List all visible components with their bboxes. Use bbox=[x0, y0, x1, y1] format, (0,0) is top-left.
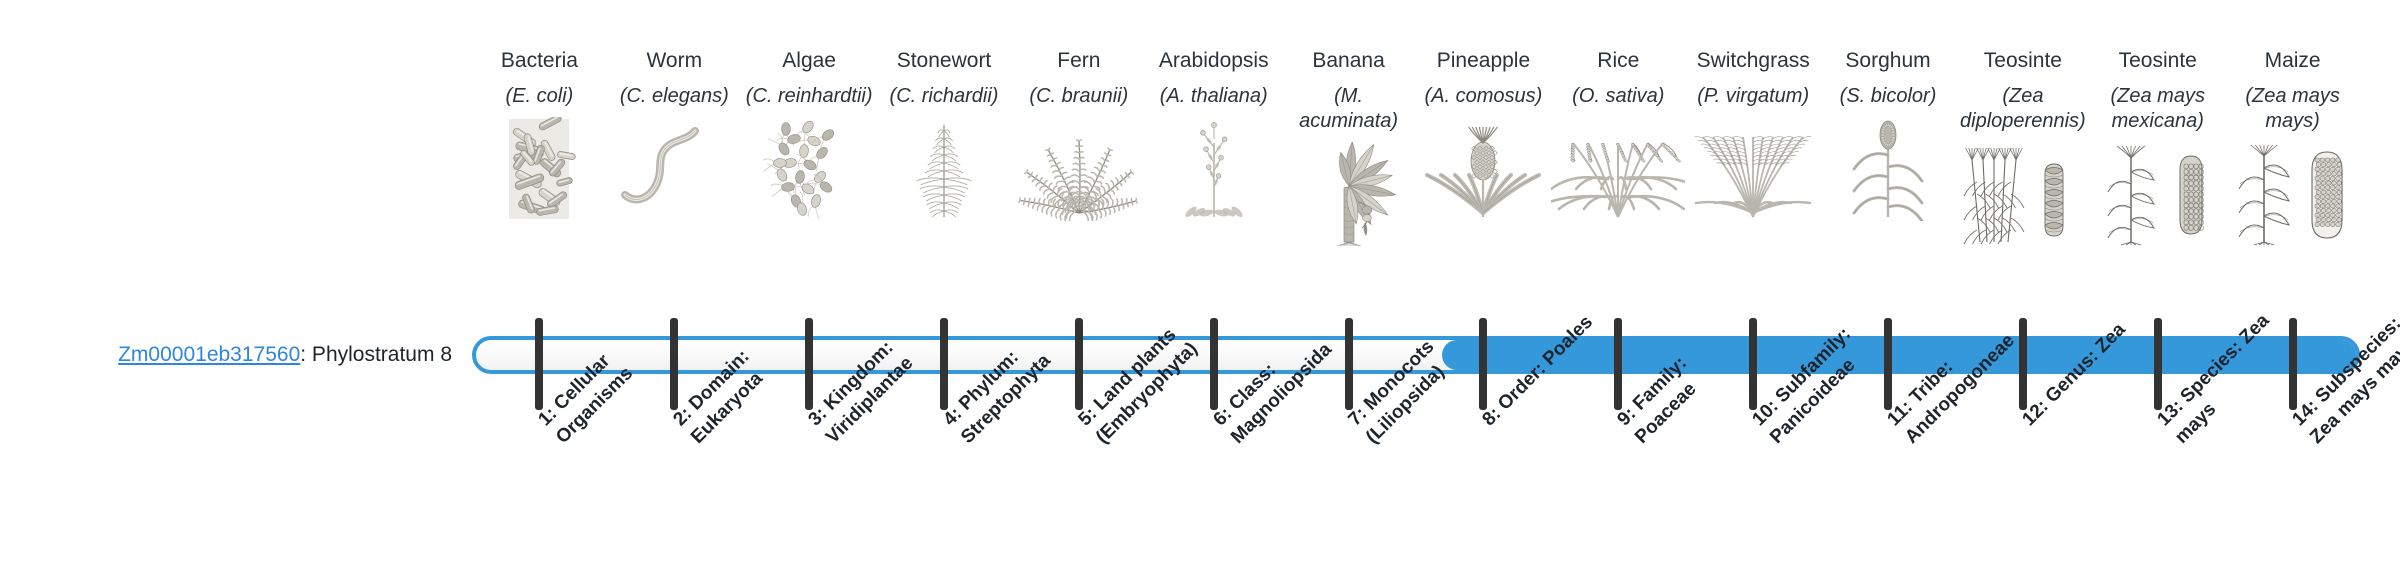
switchgrass-illustration bbox=[1686, 117, 1820, 221]
species-column: Banana(M. acuminata) bbox=[1281, 48, 1416, 246]
species-scientific-name: (A. comosus) bbox=[1425, 84, 1543, 109]
species-scientific-name: (C. reinhardtii) bbox=[746, 84, 873, 109]
species-column: Switchgrass(P. virgatum) bbox=[1686, 48, 1821, 221]
species-common-name: Algae bbox=[782, 48, 836, 74]
rank-label-1: 1: Cellular Organisms bbox=[533, 308, 674, 449]
rank-label-4: 4: Phylum: Streptophyta bbox=[938, 308, 1079, 449]
species-common-name: Arabidopsis bbox=[1159, 48, 1269, 74]
species-common-name: Switchgrass bbox=[1697, 48, 1810, 74]
species-column: Teosinte(Zea diploperennis) bbox=[1955, 48, 2090, 246]
rice-plant-illustration bbox=[1551, 117, 1685, 221]
species-column: Algae(C. reinhardtii) bbox=[742, 48, 877, 221]
rank-label-10: 10: Subfamily: Panicoideae bbox=[1747, 308, 1888, 449]
gene-label: Zm00001eb317560: Phylostratum 8 bbox=[0, 336, 452, 374]
nematode-worm-illustration bbox=[607, 117, 741, 221]
rank-label-2: 2: Domain: Eukaryota bbox=[668, 308, 809, 449]
phylostratum-timeline-figure: Bacteria(E. coli)Worm(C. elegans)Algae(C… bbox=[0, 0, 2400, 580]
bacteria-rods-illustration bbox=[472, 117, 606, 221]
maize-plant-and-cob-illustration bbox=[2226, 142, 2360, 246]
arabidopsis-illustration bbox=[1147, 117, 1281, 221]
rank-label-5: 5: Land plants (Embryophyta) bbox=[1073, 308, 1214, 449]
sorghum-plant-illustration bbox=[1821, 117, 1955, 221]
species-scientific-name: (O. sativa) bbox=[1572, 84, 1664, 109]
gene-id-link[interactable]: Zm00001eb317560 bbox=[118, 343, 300, 367]
species-column: Bacteria(E. coli) bbox=[472, 48, 607, 221]
species-common-name: Banana bbox=[1312, 48, 1384, 74]
species-column: Worm(C. elegans) bbox=[607, 48, 742, 221]
species-column: Maize(Zea mays mays) bbox=[2225, 48, 2360, 246]
species-common-name: Rice bbox=[1597, 48, 1639, 74]
species-scientific-name: (C. elegans) bbox=[620, 84, 729, 109]
species-column: Sorghum(S. bicolor) bbox=[1821, 48, 1956, 221]
species-column: Fern(C. braunii) bbox=[1011, 48, 1146, 221]
teosinte-mexicana-plant-and-ear-illustration bbox=[2091, 142, 2225, 246]
pineapple-plant-illustration bbox=[1416, 117, 1550, 221]
species-common-name: Sorghum bbox=[1845, 48, 1930, 74]
species-column: Teosinte(Zea mays mexicana) bbox=[2090, 48, 2225, 246]
species-scientific-name: (E. coli) bbox=[506, 84, 574, 109]
rank-label-9: 9: Family: Poaceae bbox=[1612, 308, 1753, 449]
teosinte-plant-and-ear-illustration bbox=[1956, 142, 2090, 246]
species-scientific-name: (P. virgatum) bbox=[1697, 84, 1809, 109]
species-common-name: Stonewort bbox=[897, 48, 992, 74]
species-column: Stonewort(C. richardii) bbox=[877, 48, 1012, 221]
species-scientific-name: (A. thaliana) bbox=[1160, 84, 1268, 109]
species-common-name: Fern bbox=[1057, 48, 1100, 74]
species-scientific-name: (Zea diploperennis) bbox=[1959, 84, 2087, 134]
rank-label-6: 6: Class: Magnoliopsida bbox=[1208, 308, 1349, 449]
rank-label-11: 11: Tribe: Andropogoneae bbox=[1882, 308, 2023, 449]
species-common-name: Maize bbox=[2265, 48, 2321, 74]
species-common-name: Pineapple bbox=[1437, 48, 1530, 74]
stonewort-illustration bbox=[877, 117, 1011, 221]
rank-label-3: 3: Kingdom: Viridiplantae bbox=[803, 308, 944, 449]
species-common-name: Worm bbox=[646, 48, 702, 74]
species-scientific-name: (C. braunii) bbox=[1029, 84, 1128, 109]
species-scientific-name: (Zea mays mays) bbox=[2229, 84, 2357, 134]
rank-label-14: 14: Subspecies: Zea mays mays bbox=[2287, 308, 2400, 449]
species-column: Arabidopsis(A. thaliana) bbox=[1146, 48, 1281, 221]
banana-plant-illustration bbox=[1282, 142, 1416, 246]
species-column: Rice(O. sativa) bbox=[1551, 48, 1686, 221]
phylostratum-value-text: : Phylostratum 8 bbox=[300, 343, 452, 367]
rank-label-13: 13: Species: Zea mays bbox=[2152, 308, 2293, 449]
algae-cells-illustration bbox=[742, 117, 876, 221]
species-scientific-name: (C. richardii) bbox=[890, 84, 999, 109]
species-scientific-name: (M. acuminata) bbox=[1285, 84, 1413, 134]
species-column: Pineapple(A. comosus) bbox=[1416, 48, 1551, 221]
species-common-name: Teosinte bbox=[1984, 48, 2062, 74]
rank-label-7: 7: Monocots (Liliopsida) bbox=[1343, 308, 1484, 449]
species-scientific-name: (S. bicolor) bbox=[1840, 84, 1937, 109]
fern-frond-illustration bbox=[1012, 117, 1146, 221]
species-header-row: Bacteria(E. coli)Worm(C. elegans)Algae(C… bbox=[472, 48, 2360, 308]
species-common-name: Teosinte bbox=[2119, 48, 2197, 74]
taxonomic-rank-labels: 1: Cellular Organisms2: Domain: Eukaryot… bbox=[472, 414, 2360, 580]
species-scientific-name: (Zea mays mexicana) bbox=[2094, 84, 2222, 134]
species-common-name: Bacteria bbox=[501, 48, 578, 74]
